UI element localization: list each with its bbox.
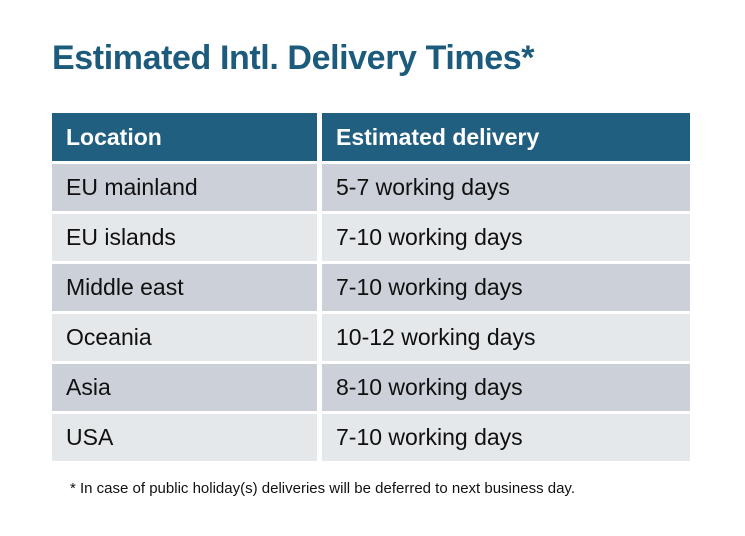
cell-delivery: 8-10 working days	[322, 364, 690, 411]
cell-delivery: 10-12 working days	[322, 314, 690, 361]
table-row: Oceania 10-12 working days	[52, 314, 690, 361]
table-row: Asia 8-10 working days	[52, 364, 690, 411]
cell-location: Asia	[52, 364, 317, 411]
cell-location: Oceania	[52, 314, 317, 361]
cell-location: EU mainland	[52, 164, 317, 211]
footnote-text: * In case of public holiday(s) deliverie…	[70, 479, 575, 499]
delivery-times-page: Estimated Intl. Delivery Times* Location…	[0, 0, 745, 536]
cell-location: Middle east	[52, 264, 317, 311]
table-row: USA 7-10 working days	[52, 414, 690, 461]
cell-delivery: 7-10 working days	[322, 264, 690, 311]
cell-delivery: 7-10 working days	[322, 414, 690, 461]
table-row: EU islands 7-10 working days	[52, 214, 690, 261]
cell-delivery: 5-7 working days	[322, 164, 690, 211]
delivery-times-table: Location Estimated delivery EU mainland …	[52, 113, 690, 461]
column-header-location: Location	[52, 113, 317, 161]
table-row: Middle east 7-10 working days	[52, 264, 690, 311]
cell-location: EU islands	[52, 214, 317, 261]
page-title: Estimated Intl. Delivery Times*	[52, 36, 534, 80]
column-header-estimated-delivery: Estimated delivery	[322, 113, 690, 161]
cell-delivery: 7-10 working days	[322, 214, 690, 261]
table-header-row: Location Estimated delivery	[52, 113, 690, 161]
cell-location: USA	[52, 414, 317, 461]
table-row: EU mainland 5-7 working days	[52, 164, 690, 211]
